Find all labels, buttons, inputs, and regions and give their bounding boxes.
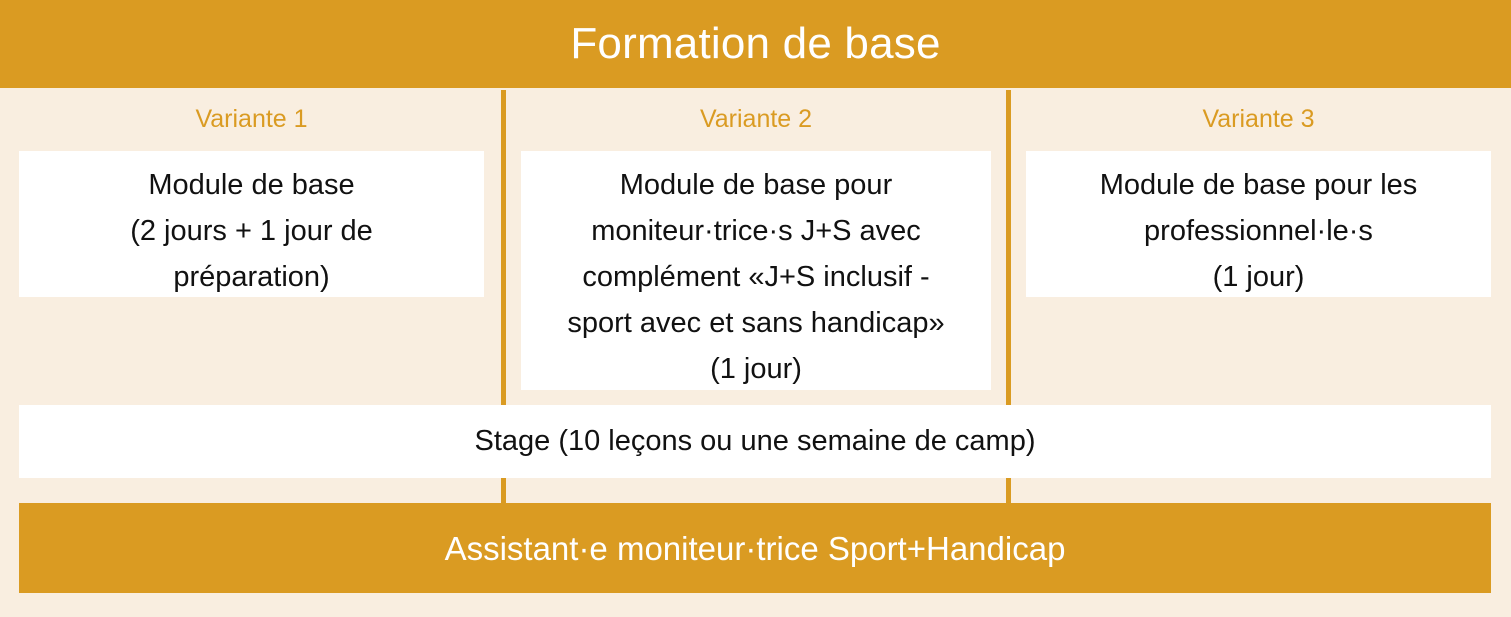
card-line: (1 jour) xyxy=(710,346,802,392)
diagram-title-bar: Formation de base xyxy=(0,0,1511,88)
qualification-label: Assistant·e moniteur·trice Sport+Handica… xyxy=(445,532,1066,565)
card-line: Module de base pour les xyxy=(1100,162,1418,208)
card-line: professionnel·le·s xyxy=(1144,208,1373,254)
page-title: Formation de base xyxy=(570,22,940,66)
card-line: Module de base xyxy=(148,162,354,208)
card-line: Module de base pour xyxy=(620,162,892,208)
card-line: complément «J+S inclusif - xyxy=(582,254,929,300)
column-divider-1-upper xyxy=(501,90,506,405)
variant-label-1: Variante 1 xyxy=(19,102,484,136)
card-line: (1 jour) xyxy=(1213,254,1305,300)
stage-label: Stage (10 leçons ou une semaine de camp) xyxy=(474,427,1035,456)
card-line: moniteur·trice·s J+S avec xyxy=(591,208,921,254)
qualification-bar: Assistant·e moniteur·trice Sport+Handica… xyxy=(19,503,1491,593)
column-divider-1-lower xyxy=(501,478,506,503)
stage-card: Stage (10 leçons ou une semaine de camp) xyxy=(19,405,1491,478)
variant-1-module-card: Module de base (2 jours + 1 jour de prép… xyxy=(19,151,484,297)
variant-3-module-card: Module de base pour les professionnel·le… xyxy=(1026,151,1491,297)
column-divider-2-lower xyxy=(1006,478,1011,503)
variant-label-2: Variante 2 xyxy=(521,102,991,136)
card-line: préparation) xyxy=(173,254,329,300)
column-divider-2-upper xyxy=(1006,90,1011,405)
card-line: sport avec et sans handicap» xyxy=(567,300,944,346)
variant-label-3: Variante 3 xyxy=(1026,102,1491,136)
variant-2-module-card: Module de base pour moniteur·trice·s J+S… xyxy=(521,151,991,390)
formation-de-base-diagram: Formation de base Variante 1 Variante 2 … xyxy=(0,0,1511,617)
card-line: (2 jours + 1 jour de xyxy=(130,208,373,254)
